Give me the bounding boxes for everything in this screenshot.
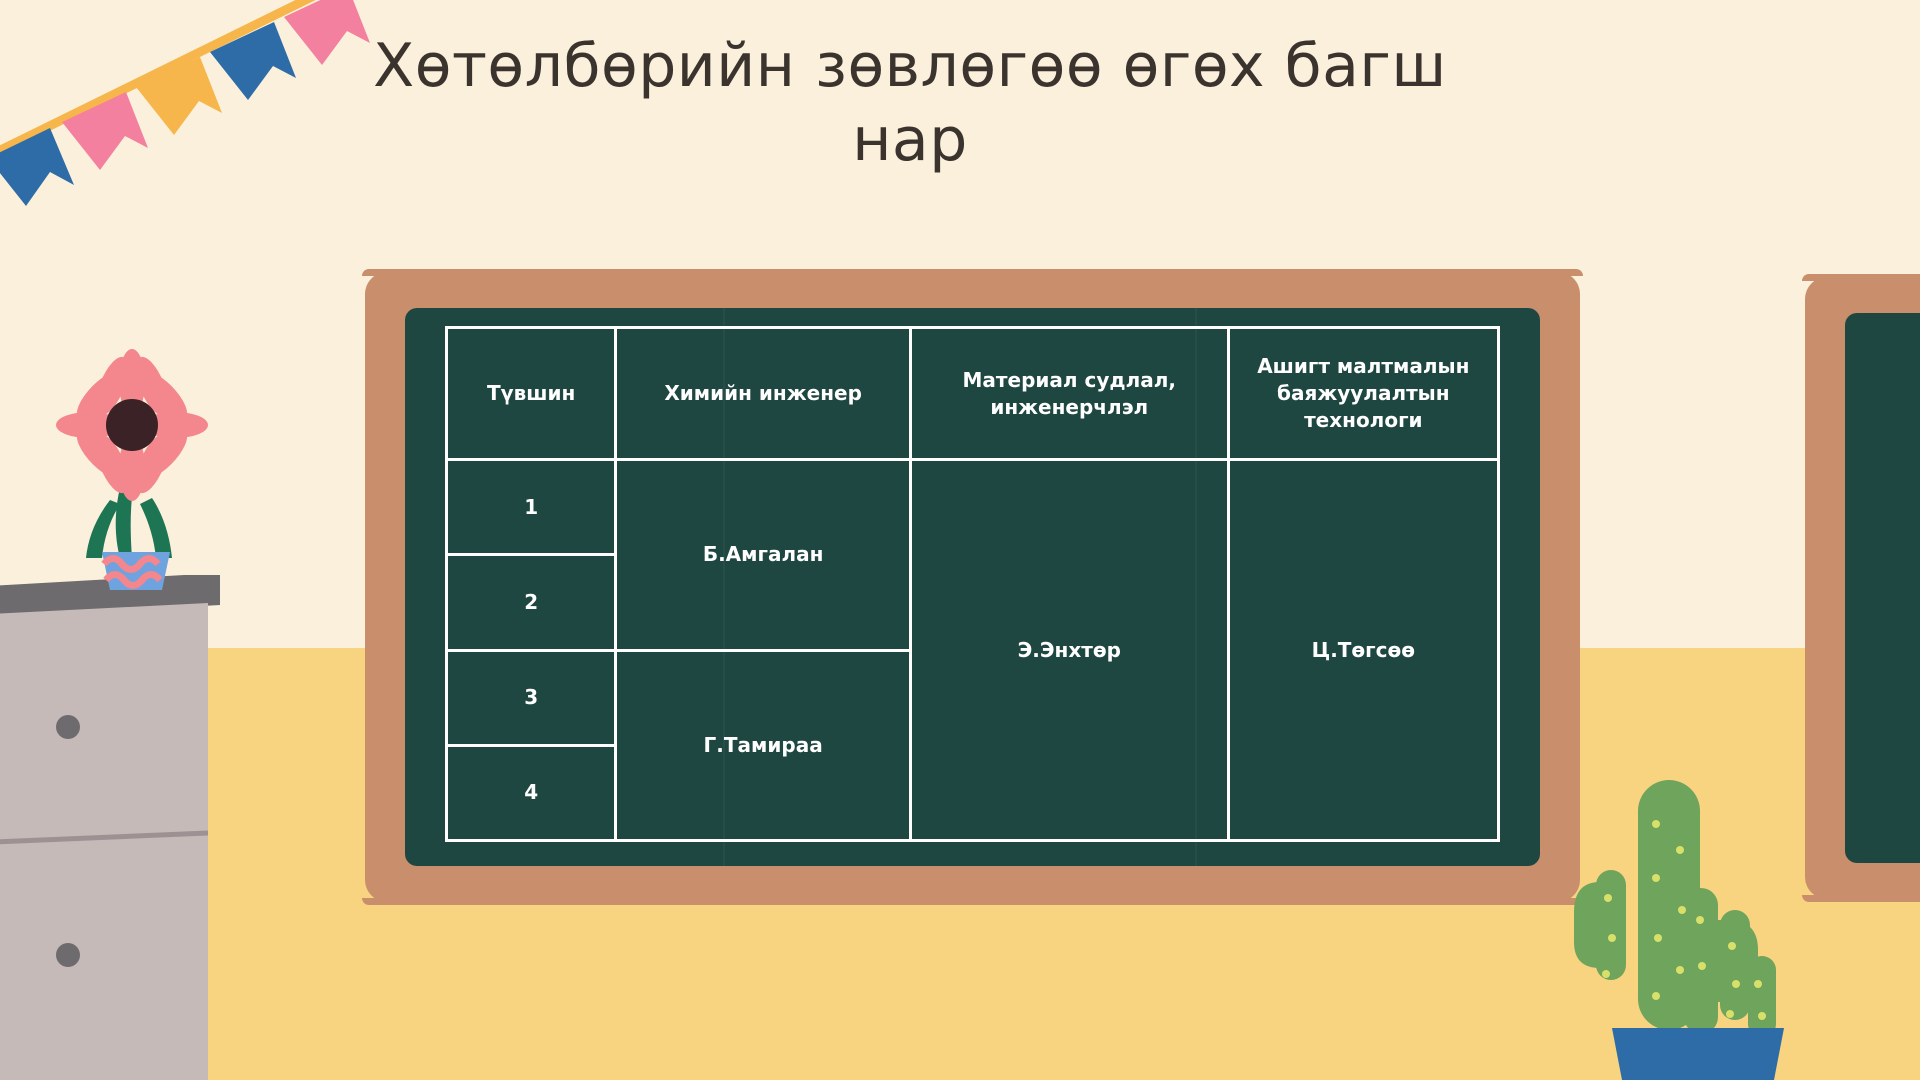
chalkboard-main: Түвшин Химийн инженер Материал судлал, и… — [365, 272, 1580, 902]
page-title: Хөтөлбөрийн зөвлөгөө өгөх багш нар — [360, 30, 1460, 178]
column-header-material: Материал судлал, инженерчлэл — [910, 328, 1228, 460]
cabinet — [0, 575, 235, 1080]
table-row: 1 Б.Амгалан Э.Энхтөр Ц.Төгсөө — [447, 460, 1499, 555]
column-header-mineral: Ашигт малтмалын баяжуулалтын технологи — [1228, 328, 1498, 460]
chalkboard-surface: Түвшин Химийн инженер Материал судлал, и… — [405, 308, 1540, 866]
cactus-plant — [1560, 770, 1830, 1080]
teachers-table-container: Түвшин Химийн инженер Материал судлал, и… — [445, 326, 1500, 842]
chemical-teacher-2: Г.Тамираа — [616, 650, 911, 841]
table-header-row: Түвшин Химийн инженер Материал судлал, и… — [447, 328, 1499, 460]
level-cell-2: 2 — [447, 555, 616, 650]
level-cell-3: 3 — [447, 650, 616, 745]
chalkboard-surface-secondary — [1845, 313, 1920, 863]
bunting-flags — [0, 0, 390, 220]
column-header-chemical: Химийн инженер — [616, 328, 911, 460]
potted-flower — [40, 330, 230, 590]
level-cell-4: 4 — [447, 745, 616, 840]
material-teacher: Э.Энхтөр — [910, 460, 1228, 841]
teachers-table: Түвшин Химийн инженер Материал судлал, и… — [445, 326, 1500, 842]
mineral-teacher: Ц.Төгсөө — [1228, 460, 1498, 841]
slide-canvas: Түвшин Химийн инженер Материал судлал, и… — [0, 0, 1920, 1080]
level-cell-1: 1 — [447, 460, 616, 555]
chemical-teacher-1: Б.Амгалан — [616, 460, 911, 651]
column-header-level: Түвшин — [447, 328, 616, 460]
